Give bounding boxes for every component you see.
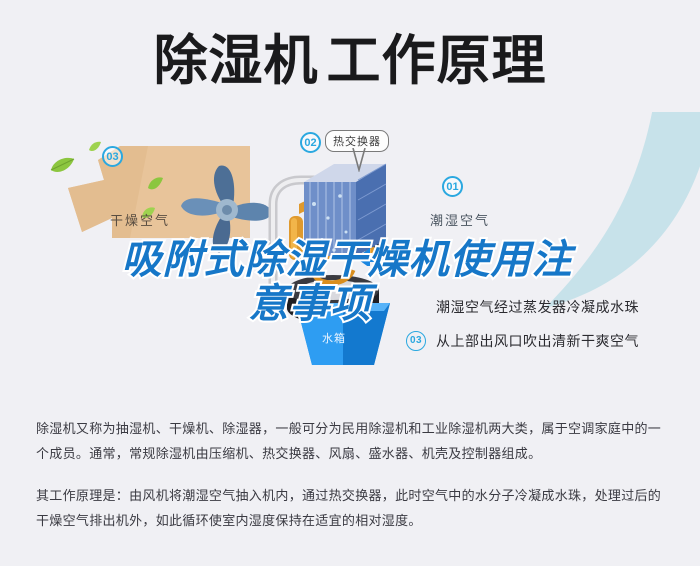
leaf-icon: [48, 156, 76, 181]
step-note-badge: 03: [406, 331, 426, 351]
step-note-text: 从上部出风口吹出清新干爽空气: [436, 333, 639, 349]
title-part-1: 除湿机: [154, 31, 319, 91]
body-paragraph-1: 除湿机又称为抽湿机、干燥机、除湿器，一般可分为民用除湿机和工业除湿机两大类，属于…: [36, 416, 662, 466]
step-note: 潮湿空气经过蒸发器冷凝成水珠: [406, 290, 696, 324]
title-part-2: 工作原理: [327, 31, 547, 91]
label-dry-air: 干燥空气: [110, 210, 170, 229]
article-body: 除湿机又称为抽湿机、干燥机、除湿器，一般可分为民用除湿机和工业除湿机两大类，属于…: [36, 416, 662, 533]
badge-01: 01: [442, 176, 463, 197]
step-note: 03 从上部出风口吹出清新干爽空气: [406, 324, 696, 358]
leaf-icon: [146, 176, 164, 197]
label-humid-air: 潮湿空气: [430, 210, 490, 229]
leaf-icon: [88, 140, 102, 158]
callout-tail-icon: [352, 148, 366, 172]
page-title: 除湿机工作原理: [0, 28, 700, 94]
badge-02: 02: [300, 132, 321, 153]
page-root: 除湿机工作原理: [0, 0, 700, 566]
label-water-tank: 水箱: [322, 330, 346, 346]
step-notes: 潮湿空气经过蒸发器冷凝成水珠 03 从上部出风口吹出清新干爽空气: [406, 290, 696, 358]
title-text: 除湿机工作原理: [154, 28, 547, 94]
badge-03: 03: [102, 146, 123, 167]
body-paragraph-2: 其工作原理是：由风机将潮湿空气抽入机内，通过热交换器，此时空气中的水分子冷凝成水…: [36, 483, 662, 533]
heat-exchanger-icon: [300, 156, 388, 266]
dehumidifier-diagram: 03 02 01 热交换器 干燥空气 潮湿空气 水箱: [0, 118, 700, 408]
step-note-text: 潮湿空气经过蒸发器冷凝成水珠: [436, 299, 639, 315]
